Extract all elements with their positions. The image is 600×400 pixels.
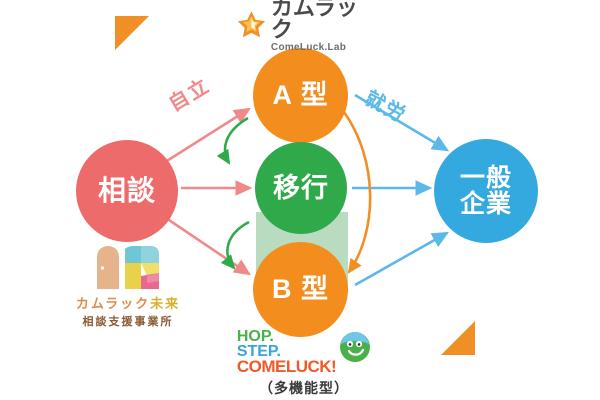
node-general-company-label-line2: 企業: [460, 191, 512, 217]
arrow-atype-to-ikou-curve: [225, 118, 248, 163]
comeluck-word: COMELUCK!: [237, 359, 336, 375]
node-sodan-label: 相談: [98, 176, 156, 205]
node-atype-label: A 型: [273, 81, 329, 109]
house-icon: [91, 243, 165, 291]
blob-face-icon: [339, 331, 371, 363]
corner-triangle-top-left: [115, 16, 149, 50]
node-sodan[interactable]: 相談: [76, 140, 178, 242]
arrow-ikou-to-btype-curve: [227, 222, 249, 268]
brand-subtitle: ComeLuck.Lab: [271, 43, 370, 53]
corner-triangle-bottom-right: [441, 321, 475, 355]
node-general-company-label-line1: 一般: [460, 165, 512, 191]
sodan-logo-line2: 相談支援事業所: [83, 313, 174, 329]
node-btype[interactable]: B 型: [253, 242, 348, 337]
arrow-sodan-to-atype: [162, 109, 249, 164]
node-ikou[interactable]: 移行: [255, 142, 347, 234]
hop-step-comeluck-logo: HOP. STEP. COMELUCK! （多機能型）: [240, 330, 368, 398]
node-general-company[interactable]: 一般 企業: [434, 139, 538, 243]
sodan-logo-mirai: 未来: [150, 296, 180, 311]
node-ikou-label: 移行: [273, 174, 329, 202]
diagram-canvas: 相談 A 型 移行 B 型 一般 企業 自立 就労 カムラック ComeLuck…: [0, 0, 600, 400]
node-atype[interactable]: A 型: [253, 48, 348, 143]
arrow-btype-to-kigyo: [355, 233, 447, 285]
brand-name: カムラック: [271, 0, 370, 41]
sodan-logo-kamurakku: カムラック: [76, 296, 150, 311]
star-icon: [236, 8, 267, 42]
brand-logo-top: カムラック ComeLuck.Lab: [236, 4, 370, 46]
hop-logo-tagline: （多機能型）: [259, 378, 349, 398]
sodan-logo-line1: カムラック未来: [76, 293, 180, 312]
sodan-branch-logo: カムラック未来 相談支援事業所: [60, 243, 196, 329]
node-btype-label: B 型: [272, 275, 329, 303]
